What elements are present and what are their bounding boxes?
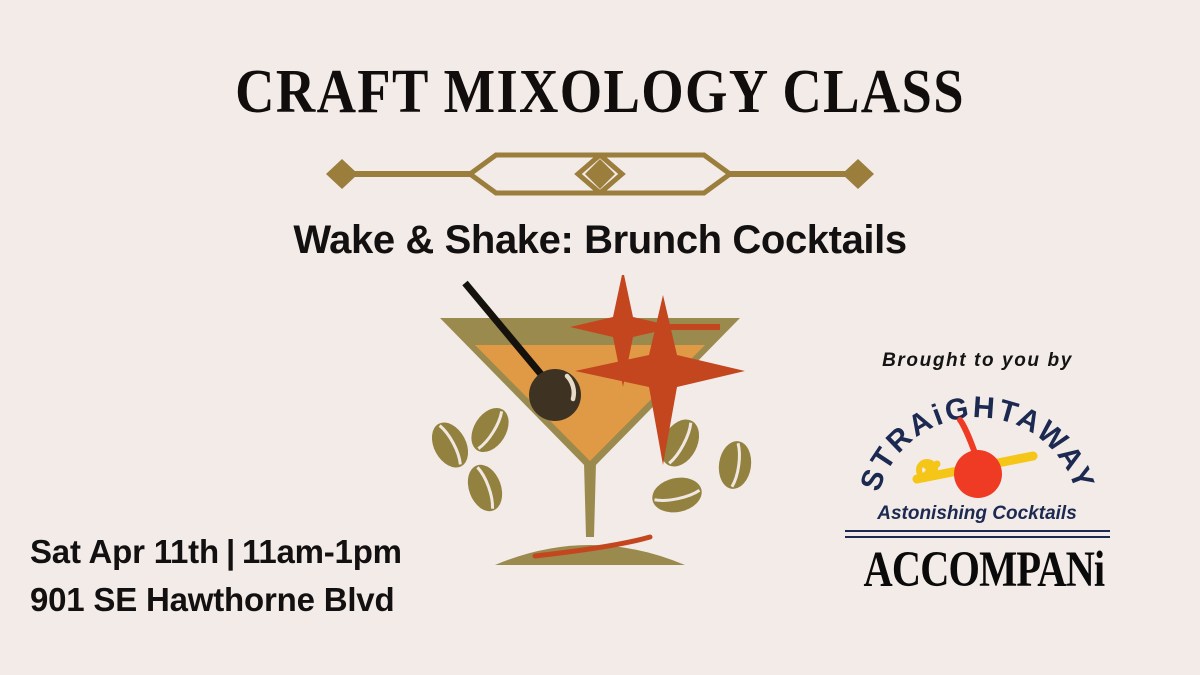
coffee-bean-group-left <box>425 401 517 516</box>
divider-icon <box>300 150 900 198</box>
accompani-rule-bottom <box>845 536 1110 538</box>
brought-to-you-by-label: Brought to you by <box>845 350 1110 372</box>
event-details: Sat Apr 11th|11am-1pm 901 SE Hawthorne B… <box>30 528 510 624</box>
accompani-wordmark: ACCOMPANi <box>864 545 1092 596</box>
accompani-rule-top <box>845 530 1110 532</box>
page-title: CRAFT MIXOLOGY CLASS <box>72 58 1128 126</box>
event-date: Sat Apr 11th <box>30 533 219 570</box>
straightaway-tagline: Astonishing Cocktails <box>876 503 1077 524</box>
detail-separator: | <box>219 533 242 570</box>
sponsor-block: Brought to you by STRAiGHTAWAY <box>845 350 1110 594</box>
straightaway-logo: STRAiGHTAWAY Astonishing Cocktails <box>845 384 1110 524</box>
cherry-icon <box>954 420 1002 498</box>
event-address: 901 SE Hawthorne Blvd <box>30 576 510 624</box>
page-subtitle: Wake & Shake: Brunch Cocktails <box>0 218 1200 263</box>
event-datetime: Sat Apr 11th|11am-1pm <box>30 528 510 576</box>
event-time: 11am-1pm <box>242 533 402 570</box>
art-deco-divider <box>300 150 900 198</box>
straightaway-logo-icon: STRAiGHTAWAY Astonishing Cocktails <box>845 384 1110 524</box>
event-flyer: CRAFT MIXOLOGY CLASS <box>0 0 1200 675</box>
accompani-logo: ACCOMPANi <box>845 530 1110 594</box>
